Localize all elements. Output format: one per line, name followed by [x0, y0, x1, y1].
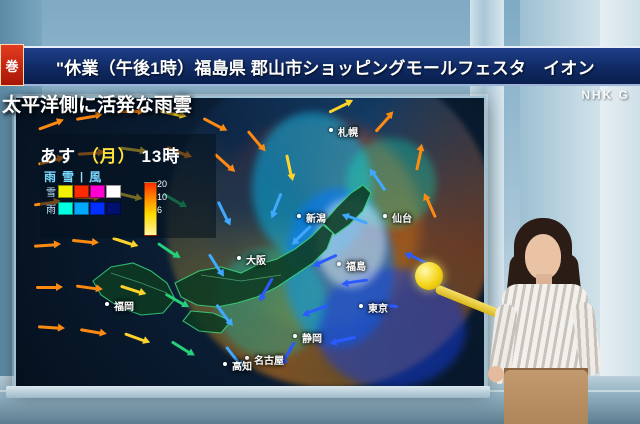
- city-label-tokyo: 東京: [368, 300, 388, 315]
- presenter-hand: [488, 366, 504, 382]
- legend-swatch: [58, 202, 73, 215]
- weather-headline: 太平洋側に活発な雨雲: [0, 88, 202, 118]
- legend-row-rain: 雨: [44, 201, 122, 216]
- city-label-kochi: 高知: [232, 358, 252, 373]
- legend-swatch: [58, 185, 73, 198]
- city-label-nagoya: 名古屋: [254, 352, 284, 367]
- legend-swatch: [106, 185, 121, 198]
- forecast-day-label: あす: [40, 147, 76, 166]
- city-label-sendai: 仙台: [392, 210, 412, 225]
- ticker-category-badge: 巻: [0, 44, 24, 86]
- channel-logo: NHK G: [581, 88, 630, 102]
- legend-separator: |: [80, 171, 83, 183]
- legend-category-headers: 雨 雪 | 風: [44, 168, 101, 185]
- legend-row-label-snow: 雪: [44, 184, 58, 199]
- legend-category-wind: 風: [89, 168, 101, 185]
- legend-swatch: [90, 185, 105, 198]
- legend-category-snow: 雪: [62, 168, 74, 185]
- presenter: [486, 218, 604, 424]
- forecast-time-title: あす （月） 13時: [40, 142, 180, 167]
- city-label-osaka: 大阪: [246, 252, 266, 267]
- legend-category-rain: 雨: [44, 168, 56, 185]
- city-label-niigata: 新潟: [306, 210, 326, 225]
- forecast-hour-label: 13時: [141, 147, 180, 166]
- broadcast-screenshot: あす （月） 13時 雨 雪 | 風 雪 雨: [0, 0, 640, 424]
- city-label-fukushima: 福島: [346, 258, 366, 273]
- legend-swatch: [106, 202, 121, 215]
- display-base-trim: [6, 386, 490, 398]
- news-ticker-text: "休業（午後1時）福島県 郡山市ショッピングモールフェスタ イオン: [0, 54, 595, 79]
- legend-swatch: [90, 202, 105, 215]
- legend-row-snow: 雪: [44, 184, 122, 199]
- legend-swatch: [74, 202, 89, 215]
- wind-speed-ticks: 20 10 6: [157, 178, 167, 217]
- legend-swatch: [74, 185, 89, 198]
- city-label-shizuoka: 静岡: [302, 330, 322, 345]
- wind-tick-6: 6: [157, 204, 167, 217]
- pointer-ball-icon: [415, 262, 443, 290]
- forecast-weekday-label: （月）: [82, 147, 136, 166]
- weather-map-display: あす （月） 13時 雨 雪 | 風 雪 雨: [14, 96, 486, 390]
- wind-tick-20: 20: [157, 178, 167, 191]
- city-label-fukuoka: 福岡: [114, 298, 134, 313]
- news-ticker-bar: "休業（午後1時）福島県 郡山市ショッピングモールフェスタ イオン: [0, 46, 640, 86]
- wind-tick-10: 10: [157, 191, 167, 204]
- wind-speed-colorbar: [144, 182, 157, 236]
- city-label-sapporo: 札幌: [338, 124, 358, 139]
- presenter-skirt: [504, 370, 588, 424]
- legend-precip-scale: 雪 雨: [44, 184, 122, 218]
- legend-row-label-rain: 雨: [44, 201, 58, 216]
